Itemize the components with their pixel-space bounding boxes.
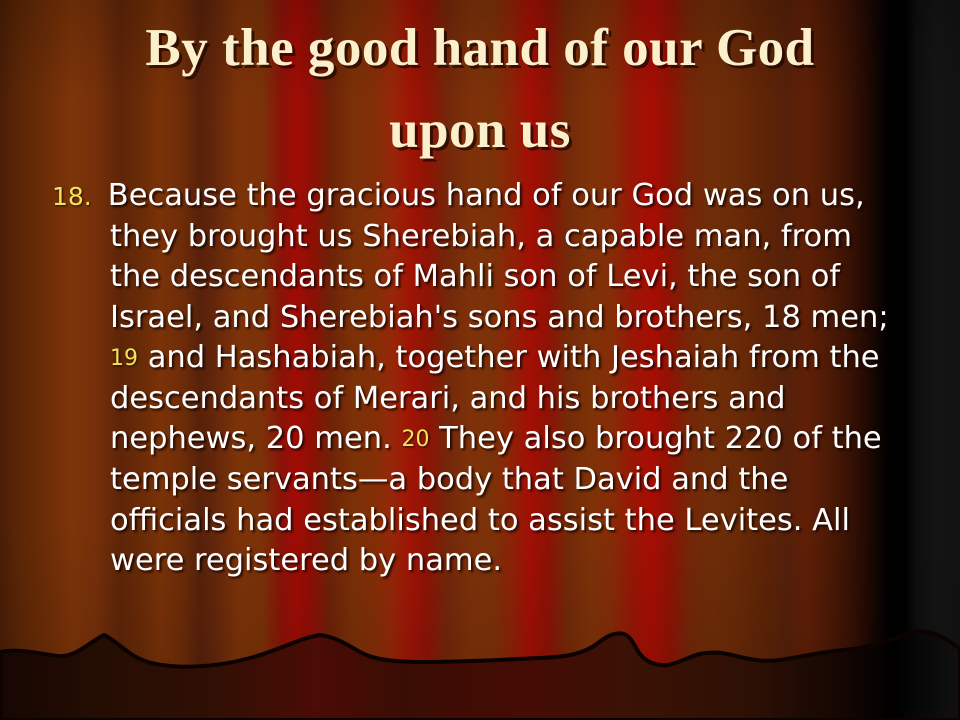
- verse-marker-19: 19: [110, 346, 138, 371]
- presentation-slide: By the good hand of our God upon us 18.B…: [0, 0, 960, 720]
- slide-title-line-2: upon us: [0, 96, 960, 166]
- scripture-text-part-1: Because the gracious hand of our God was…: [108, 178, 889, 335]
- scripture-paragraph: 18.Because the gracious hand of our God …: [52, 176, 908, 581]
- verse-marker-18: 18.: [52, 182, 92, 211]
- slide-body: 18.Because the gracious hand of our God …: [52, 176, 908, 581]
- verse-marker-20: 20: [401, 427, 429, 452]
- slide-title: By the good hand of our God: [0, 14, 960, 84]
